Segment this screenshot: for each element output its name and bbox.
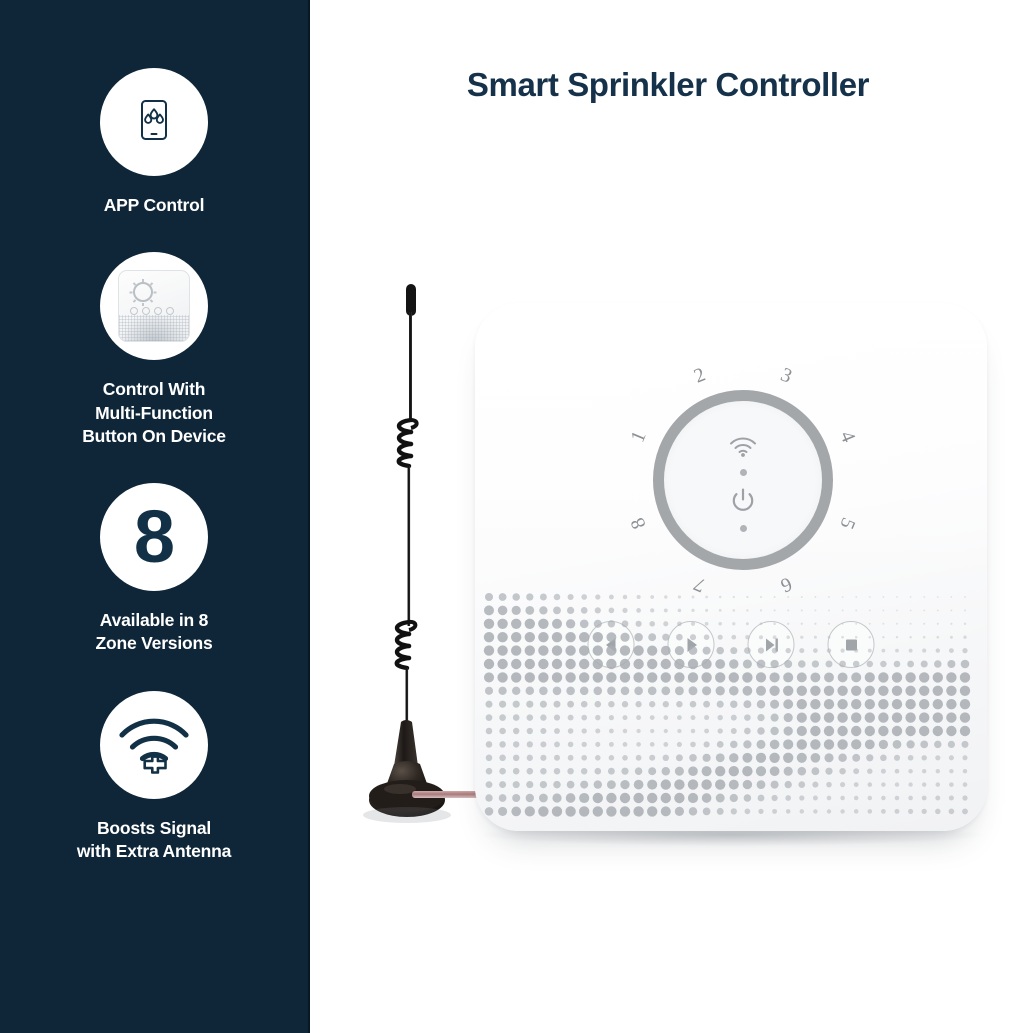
grille-dot [677, 729, 681, 733]
grille-dot [540, 701, 547, 708]
grille-dot [621, 768, 628, 775]
grille-dot [663, 715, 668, 720]
grille-dot [663, 755, 669, 761]
grille-dot [566, 686, 575, 695]
grille-dot [581, 594, 587, 600]
grille-dot [773, 623, 776, 626]
grille-dot [594, 768, 601, 775]
zone-dial[interactable]: 1 2 3 4 5 6 7 8 [618, 355, 868, 605]
grille-dot [497, 645, 507, 655]
grille-dot [633, 645, 643, 655]
mini-dial-tick [154, 291, 157, 293]
grille-dot [837, 726, 847, 736]
grille-dot [581, 701, 588, 708]
grille-dot [511, 672, 521, 682]
grille-dot [746, 596, 748, 598]
grille-dot [650, 715, 655, 720]
grille-dot [513, 768, 520, 775]
grille-dot [840, 809, 844, 813]
grille-dot [868, 649, 872, 653]
grille-dot [702, 686, 711, 695]
grille-dot [756, 686, 766, 696]
grille-dot [716, 686, 725, 695]
grille-dot [622, 715, 627, 720]
grille-dot [675, 807, 684, 816]
device-photo-icon [118, 270, 190, 342]
external-whip-antenna [362, 270, 492, 840]
grille-dot [964, 596, 966, 598]
grille-dot [852, 754, 860, 762]
grille-dot [527, 728, 533, 734]
grille-dot [608, 620, 615, 627]
grille-dot [758, 648, 764, 654]
grille-dot [730, 741, 738, 749]
grille-dot [647, 793, 657, 803]
grille-dot [759, 635, 763, 639]
grille-dot [867, 768, 872, 773]
grille-dot [949, 795, 954, 800]
grille-dot [716, 753, 725, 762]
grille-dot [719, 609, 722, 612]
grille-dot [552, 659, 562, 669]
grille-dot [783, 753, 793, 763]
grille-dot [744, 714, 751, 721]
grille-dot [609, 715, 614, 720]
grille-dot [635, 701, 641, 707]
grille-dot [865, 726, 875, 736]
grille-dot [622, 620, 629, 627]
grille-dot [715, 779, 725, 789]
grille-dot [772, 809, 777, 814]
grille-dot [787, 609, 789, 611]
grille-dot [527, 768, 534, 775]
mini-button [154, 307, 162, 315]
grille-dot [866, 754, 873, 761]
grille-dot [593, 793, 603, 803]
grille-dot [677, 715, 682, 720]
wifi-led [740, 469, 747, 476]
grille-dot [851, 712, 861, 722]
grille-dot [662, 634, 669, 641]
grille-dot [896, 623, 898, 625]
grille-dot [499, 701, 506, 708]
grille-dot [933, 726, 943, 736]
grille-dot [581, 768, 587, 774]
speaker-grille [475, 581, 987, 831]
grille-dot [718, 635, 723, 640]
grille-dot [812, 660, 819, 667]
grille-dot [703, 647, 711, 655]
feature-multi-function-button: Control With Multi-Function Button On De… [24, 252, 284, 448]
grille-dot [526, 701, 533, 708]
grille-dot [525, 645, 535, 655]
grille-dot [851, 726, 861, 736]
grille-dot [499, 593, 507, 601]
grille-dot [745, 809, 751, 815]
feature-label: Boosts Signal with Extra Antenna [77, 817, 231, 864]
grille-dot [594, 780, 602, 788]
power-status-icon [730, 487, 756, 518]
grille-dot [840, 782, 845, 787]
grille-dot [511, 807, 521, 817]
grille-dot [963, 636, 966, 639]
multi-function-badge [100, 252, 208, 360]
grille-dot [595, 594, 600, 599]
grille-dot [811, 753, 821, 763]
grille-dot [905, 672, 915, 682]
grille-dot [896, 636, 898, 638]
grille-dot [950, 623, 952, 625]
grille-dot [937, 596, 939, 598]
grille-dot [905, 686, 915, 696]
grille-dot [704, 634, 710, 640]
grille-dot [608, 701, 614, 707]
grille-dot [512, 606, 521, 615]
mini-dial-tick [133, 282, 137, 286]
grille-dot [950, 636, 953, 639]
grille-dot [842, 609, 844, 611]
grille-dot [922, 649, 926, 653]
zone-count-number: 8 [134, 500, 174, 574]
grille-dot [593, 659, 603, 669]
grille-dot [704, 741, 710, 747]
grille-dot [824, 753, 833, 762]
grille-dot [690, 701, 697, 708]
grille-dot [922, 782, 926, 786]
grille-dot [880, 754, 887, 761]
grille-dot [620, 780, 629, 789]
grille-dot [880, 661, 887, 668]
grille-dot [882, 649, 886, 653]
grille-dot [895, 782, 899, 786]
grille-dot [623, 742, 628, 747]
grille-dot [647, 780, 657, 790]
grille-dot [579, 806, 589, 816]
grille-dot [919, 672, 929, 682]
grille-dot [936, 769, 940, 773]
grille-dot [566, 619, 575, 628]
grille-dot [716, 647, 724, 655]
grille-dot [810, 726, 820, 736]
grille-dot [824, 726, 834, 736]
grille-dot [919, 699, 929, 709]
grille-dot [568, 715, 574, 721]
grille-dot [554, 755, 560, 761]
grille-dot [635, 767, 643, 775]
grille-dot [677, 621, 682, 626]
dial-number-3: 3 [771, 360, 802, 391]
mini-button [166, 307, 174, 315]
grille-dot [606, 632, 616, 642]
grille-dot [678, 595, 681, 598]
number-8-badge: 8 [100, 483, 208, 591]
grille-dot [703, 754, 711, 762]
grille-dot [579, 645, 589, 655]
mini-grille [119, 315, 189, 341]
mini-button [130, 307, 138, 315]
grille-dot [538, 619, 548, 629]
grille-dot [675, 686, 684, 695]
grille-dot [538, 672, 548, 682]
grille-dot [837, 739, 847, 749]
grille-dot [553, 687, 562, 696]
grille-dot [851, 672, 861, 682]
grille-dot [784, 726, 793, 735]
grille-dot [854, 649, 858, 653]
grille-dot [540, 728, 546, 734]
grille-dot [841, 636, 844, 639]
grille-dot [579, 672, 589, 682]
grille-dot [785, 781, 792, 788]
grille-dot [839, 768, 846, 775]
grille-dot [540, 714, 546, 720]
grille-dot [743, 780, 752, 789]
grille-dot [731, 715, 737, 721]
grille-dot [636, 608, 641, 613]
grille-dot [771, 714, 779, 722]
grille-dot [664, 608, 668, 612]
grille-dot [648, 767, 656, 775]
grille-dot [801, 623, 803, 625]
grille-dot [648, 633, 656, 641]
grille-dot [854, 809, 859, 814]
grille-dot [484, 619, 494, 629]
grille-dot [688, 672, 698, 682]
grille-dot [756, 766, 766, 776]
grille-dot [511, 632, 521, 642]
grille-dot [920, 741, 928, 749]
grille-dot [949, 648, 954, 653]
grille-dot [919, 712, 929, 722]
grille-dot [813, 809, 817, 813]
grille-dot [498, 606, 508, 616]
grille-dot [581, 755, 587, 761]
grille-dot [499, 768, 506, 775]
grille-dot [525, 619, 535, 629]
grille-dot [675, 767, 684, 776]
grille-dot [923, 623, 925, 625]
grille-dot [745, 635, 749, 639]
grille-dot [936, 648, 940, 652]
grille-dot [894, 661, 901, 668]
grille-dot [595, 742, 600, 747]
grille-dot [552, 793, 561, 802]
wifi-plus-icon [115, 707, 193, 782]
grille-dot [620, 793, 630, 803]
grille-dot [731, 635, 736, 640]
grille-dot [688, 793, 698, 803]
grille-dot [919, 726, 929, 736]
grille-dot [935, 796, 940, 801]
grille-dot [758, 809, 763, 814]
grille-dot [552, 806, 562, 816]
grille-dot [814, 623, 816, 625]
features-sidebar: APP Control Control With Multi-Function … [0, 0, 310, 1033]
grille-dot [869, 636, 872, 639]
grille-dot [566, 793, 576, 803]
grille-dot [786, 635, 789, 638]
grille-dot [513, 714, 520, 721]
grille-dot [865, 672, 875, 682]
product-showcase: Smart Sprinkler Controller [312, 0, 1024, 1033]
grille-dot [744, 728, 751, 735]
grille-dot [948, 741, 955, 748]
grille-dot [826, 661, 833, 668]
grille-dot [677, 742, 682, 747]
grille-dot [797, 713, 807, 723]
grille-dot [661, 659, 671, 669]
grille-dot [674, 793, 684, 803]
grille-dot [933, 712, 943, 722]
grille-dot [810, 672, 820, 682]
grille-dot [787, 596, 789, 598]
grille-dot [800, 809, 804, 813]
grille-dot [580, 619, 589, 628]
grille-dot [837, 686, 847, 696]
grille-dot [853, 661, 860, 668]
grille-dot [650, 608, 654, 612]
grille-dot [949, 782, 954, 787]
grille-dot [664, 729, 668, 733]
grille-dot [878, 726, 888, 736]
grille-dot [552, 645, 562, 655]
grille-dot [636, 755, 642, 761]
grille-dot [690, 742, 696, 748]
grille-dot [878, 712, 888, 722]
grille-dot [769, 753, 779, 763]
grille-dot [729, 766, 739, 776]
grille-dot [647, 645, 657, 655]
grille-dot [676, 754, 683, 761]
grille-dot [620, 672, 630, 682]
grille-dot [878, 699, 888, 709]
grille-dot [919, 686, 929, 696]
grille-dot [594, 620, 602, 628]
grille-dot [622, 701, 628, 707]
grille-dot [663, 701, 669, 707]
grille-dot [733, 609, 736, 612]
grille-dot [908, 809, 913, 814]
grille-dot [704, 715, 709, 720]
grille-dot [607, 687, 616, 696]
grille-dot [703, 701, 710, 708]
grille-dot [484, 632, 494, 642]
grille-dot [540, 594, 547, 601]
grille-dot [715, 659, 725, 669]
grille-dot [801, 609, 803, 611]
grille-dot [526, 794, 534, 802]
grille-dot [674, 659, 684, 669]
grille-dot [827, 648, 831, 652]
grille-dot [593, 632, 603, 642]
grille-dot [527, 714, 534, 721]
grille-dot [962, 795, 967, 800]
grille-dot [568, 728, 574, 734]
grille-dot [513, 741, 519, 747]
dial-number-5: 5 [832, 508, 863, 539]
grille-dot [554, 715, 560, 721]
grille-dot [525, 606, 534, 615]
grille-dot [949, 809, 955, 815]
grille-dot [663, 742, 668, 747]
grille-dot [825, 768, 832, 775]
grille-dot [869, 596, 871, 598]
grille-dot [567, 768, 573, 774]
grille-dot [946, 672, 956, 682]
grille-dot [743, 659, 752, 668]
grille-dot [905, 726, 915, 736]
dial-number-4: 4 [832, 421, 863, 452]
grille-dot [648, 686, 657, 695]
grille-dot [540, 781, 547, 788]
product-infographic: APP Control Control With Multi-Function … [0, 0, 1024, 1033]
grille-dot [855, 623, 857, 625]
feature-label: Control With Multi-Function Button On De… [82, 378, 226, 448]
grille-dot [661, 686, 670, 695]
grille-dot [609, 608, 615, 614]
grille-dot [636, 621, 642, 627]
grille-dot [824, 672, 834, 682]
grille-dot [882, 623, 884, 625]
grille-dot [622, 608, 627, 613]
grille-dot [936, 782, 940, 786]
grille-dot [770, 727, 778, 735]
grille-dot [593, 645, 603, 655]
grille-dot [757, 700, 765, 708]
grille-dot [810, 699, 820, 709]
grille-dot [881, 769, 886, 774]
grille-dot [824, 699, 834, 709]
mini-dial-tick [142, 279, 144, 282]
grille-dot [730, 647, 737, 654]
grille-dot [786, 809, 791, 814]
grille-dot [595, 715, 600, 720]
grille-dot [851, 739, 861, 749]
grille-dot [922, 809, 927, 814]
grille-dot [867, 661, 874, 668]
grille-dot [881, 809, 886, 814]
grille-dot [499, 755, 506, 762]
grille-dot [783, 739, 793, 749]
grille-dot [947, 660, 955, 668]
grille-dot [702, 766, 712, 776]
grille-dot [798, 767, 807, 776]
grille-dot [892, 726, 902, 736]
grille-dot [798, 660, 806, 668]
grille-dot [837, 712, 847, 722]
grille-dot [705, 596, 708, 599]
grille-dot [879, 740, 888, 749]
dial-number-2: 2 [684, 360, 715, 391]
grille-dot [934, 741, 941, 748]
grille-dot [609, 755, 615, 761]
grille-dot [797, 726, 807, 736]
grille-dot [593, 806, 603, 816]
grille-dot [704, 729, 709, 734]
grille-dot [526, 593, 533, 600]
grille-dot [689, 686, 698, 695]
grille-dot [934, 660, 942, 668]
grille-dot [730, 700, 737, 707]
grille-dot [838, 672, 848, 682]
grille-dot [538, 645, 548, 655]
grille-dot [606, 672, 616, 682]
grille-dot [827, 796, 832, 801]
grille-dot [579, 659, 589, 669]
grille-dot [580, 687, 589, 696]
smart-sprinkler-controller-device: 1 2 3 4 5 6 7 8 [475, 303, 987, 831]
grille-dot [797, 753, 807, 763]
